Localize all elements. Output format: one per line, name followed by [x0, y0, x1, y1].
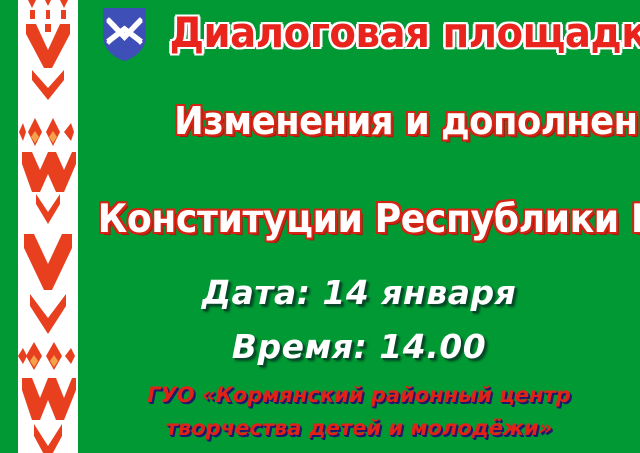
- organizer-name-line-1: ГУО «Кормянский районный центр: [78, 381, 640, 409]
- poster-canvas: Диалоговая площадка Изменения и дополнен…: [0, 0, 640, 453]
- headline-tertiary: Конституции Республики Беларусь: [98, 196, 621, 244]
- belarusian-ornament-border: [18, 0, 78, 453]
- headline-secondary: Изменения и дополнения: [174, 98, 602, 144]
- ornament-pattern-icon: [18, 0, 78, 453]
- organizer-name-line-2: творчества детей и молодёжи»: [78, 414, 640, 442]
- headline-primary: Диалоговая площадка: [170, 8, 621, 58]
- headline-block: Диалоговая площадка Изменения и дополнен…: [78, 0, 640, 268]
- event-date: Дата: 14 января: [78, 272, 640, 314]
- event-time: Время: 14.00: [78, 326, 640, 368]
